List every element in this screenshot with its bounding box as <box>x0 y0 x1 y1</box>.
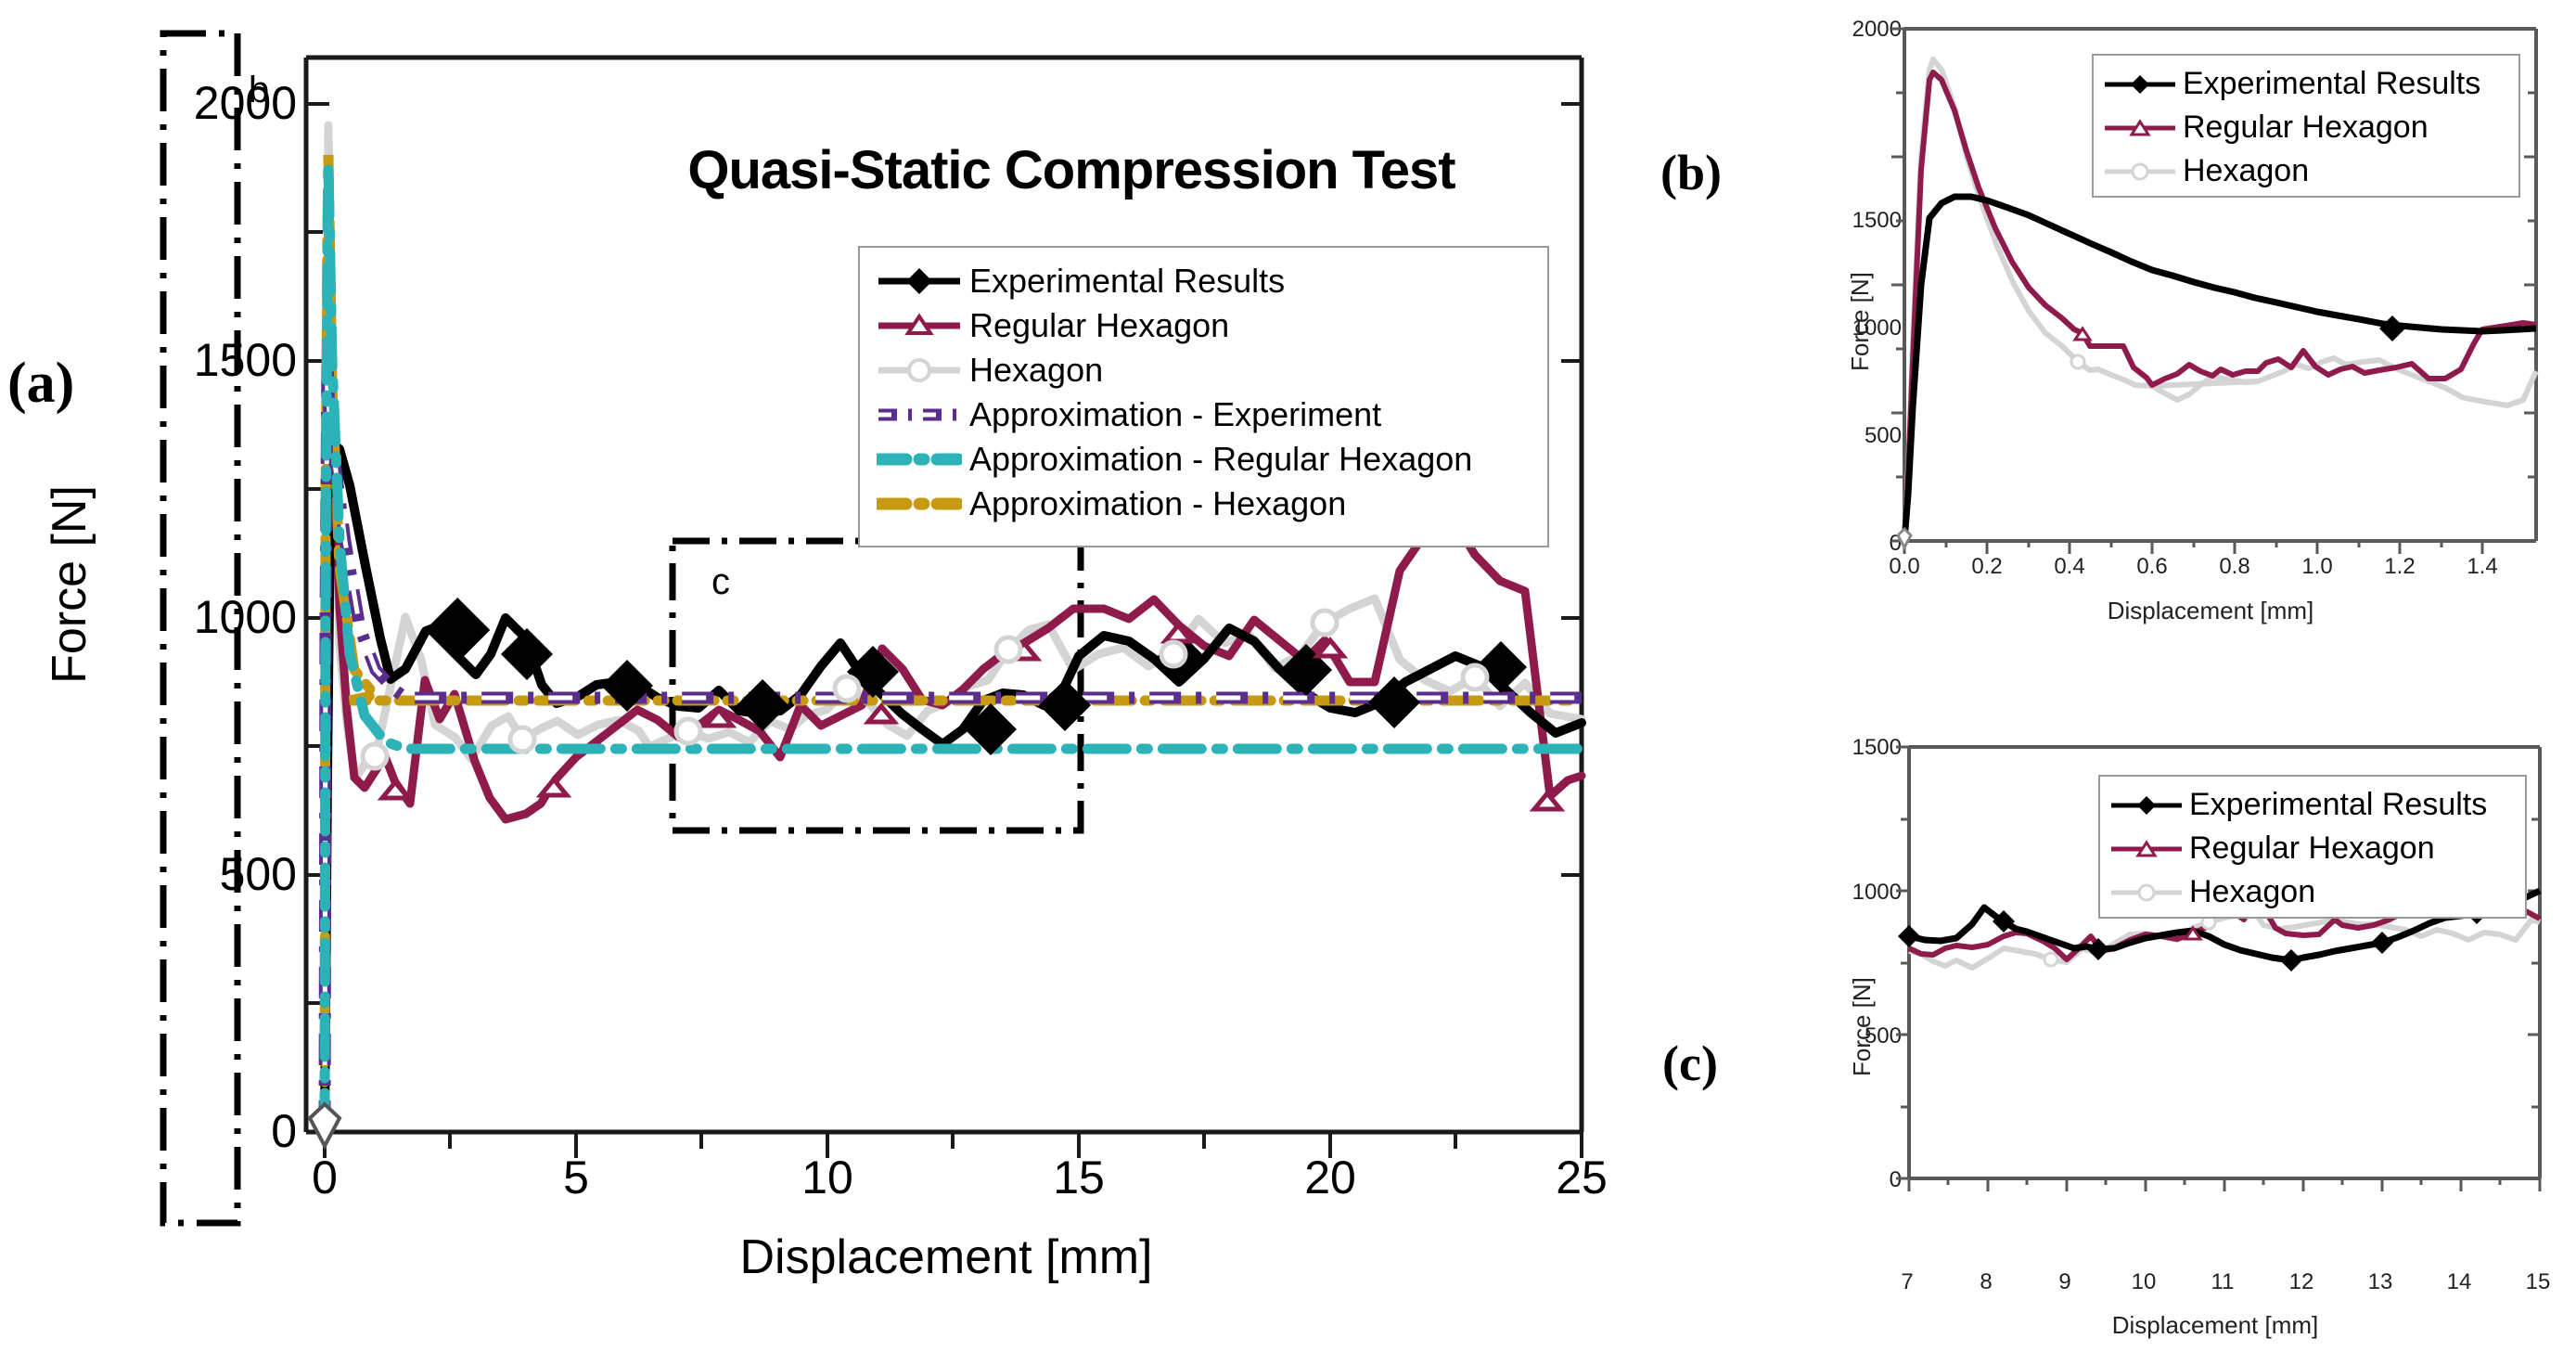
right-tick-marks <box>1561 104 1582 875</box>
panel-b-inset-chart: (b) Force [N] Displacement [mm] 0 500 10… <box>1651 0 2576 650</box>
legend-c-item-hexagon[interactable]: Hexagon <box>2109 870 2516 914</box>
legend-swatch-approx-experiment <box>877 396 962 433</box>
legend-b-swatch-hexagon <box>2103 158 2177 186</box>
legend-c-swatch-regular-hexagon <box>2109 835 2184 863</box>
legend-c-item-experimental[interactable]: Experimental Results <box>2109 783 2516 827</box>
legend-item-approx-hexagon[interactable]: Approximation - Hexagon <box>877 482 1531 526</box>
legend-panel-c: Experimental Results Regular Hexagon Hex… <box>2098 775 2527 919</box>
legend-c-swatch-experimental <box>2109 791 2184 819</box>
inset-label-c: c <box>711 561 730 602</box>
panel-b-origin-marker <box>1898 529 1911 547</box>
legend-panel-b: Experimental Results Regular Hexagon Hex… <box>2092 54 2520 198</box>
x-tick-marks <box>325 1132 1582 1158</box>
legend-label-experimental: Experimental Results <box>969 262 1285 301</box>
inset-region-b-box <box>163 33 237 1223</box>
legend-label-hexagon: Hexagon <box>969 351 1103 390</box>
legend-c-item-regular-hexagon[interactable]: Regular Hexagon <box>2109 827 2516 870</box>
legend-b-item-hexagon[interactable]: Hexagon <box>2103 149 2509 193</box>
legend-swatch-hexagon <box>877 352 962 389</box>
panel-b-experimental-marker <box>2379 315 2405 341</box>
inset-label-b: b <box>249 70 269 110</box>
legend-item-experimental[interactable]: Experimental Results <box>877 259 1531 303</box>
panel-c-inset-chart: (c) Force [N] Displacement [mm] 0 500 10… <box>1651 705 2576 1364</box>
legend-item-approx-experiment[interactable]: Approximation - Experiment <box>877 392 1531 437</box>
legend-item-hexagon[interactable]: Hexagon <box>877 348 1531 392</box>
panel-a-main-chart: (a) Quasi-Static Compression Test Force … <box>0 0 1633 1364</box>
legend-b-swatch-regular-hexagon <box>2103 114 2177 142</box>
legend-swatch-regular-hexagon <box>877 307 962 344</box>
legend-label-approx-experiment: Approximation - Experiment <box>969 395 1381 434</box>
legend-label-regular-hexagon: Regular Hexagon <box>969 306 1229 345</box>
legend-b-label-regular-hexagon: Regular Hexagon <box>2183 109 2429 146</box>
legend-b-label-experimental: Experimental Results <box>2183 66 2480 102</box>
legend-c-swatch-hexagon <box>2109 879 2184 907</box>
legend-swatch-approx-hexagon <box>877 485 962 522</box>
legend-c-label-experimental: Experimental Results <box>2189 787 2487 823</box>
legend-b-item-regular-hexagon[interactable]: Regular Hexagon <box>2103 106 2509 149</box>
legend-b-item-experimental[interactable]: Experimental Results <box>2103 62 2509 106</box>
legend-c-label-hexagon: Hexagon <box>2189 874 2315 910</box>
legend-swatch-approx-regular-hexagon <box>877 441 962 478</box>
legend-b-swatch-experimental <box>2103 71 2177 98</box>
panel-b-hexagon-marker <box>2071 355 2084 368</box>
legend-b-label-hexagon: Hexagon <box>2183 153 2309 189</box>
legend-item-regular-hexagon[interactable]: Regular Hexagon <box>877 303 1531 348</box>
legend-panel-a: Experimental Results Regular Hexagon Hex… <box>858 246 1549 547</box>
legend-c-label-regular-hexagon: Regular Hexagon <box>2189 830 2435 867</box>
legend-label-approx-regular-hexagon: Approximation - Regular Hexagon <box>969 440 1472 479</box>
legend-label-approx-hexagon: Approximation - Hexagon <box>969 484 1346 523</box>
legend-item-approx-regular-hexagon[interactable]: Approximation - Regular Hexagon <box>877 437 1531 482</box>
legend-swatch-experimental <box>877 263 962 300</box>
panel-a-plot-area: b c <box>0 0 1633 1364</box>
